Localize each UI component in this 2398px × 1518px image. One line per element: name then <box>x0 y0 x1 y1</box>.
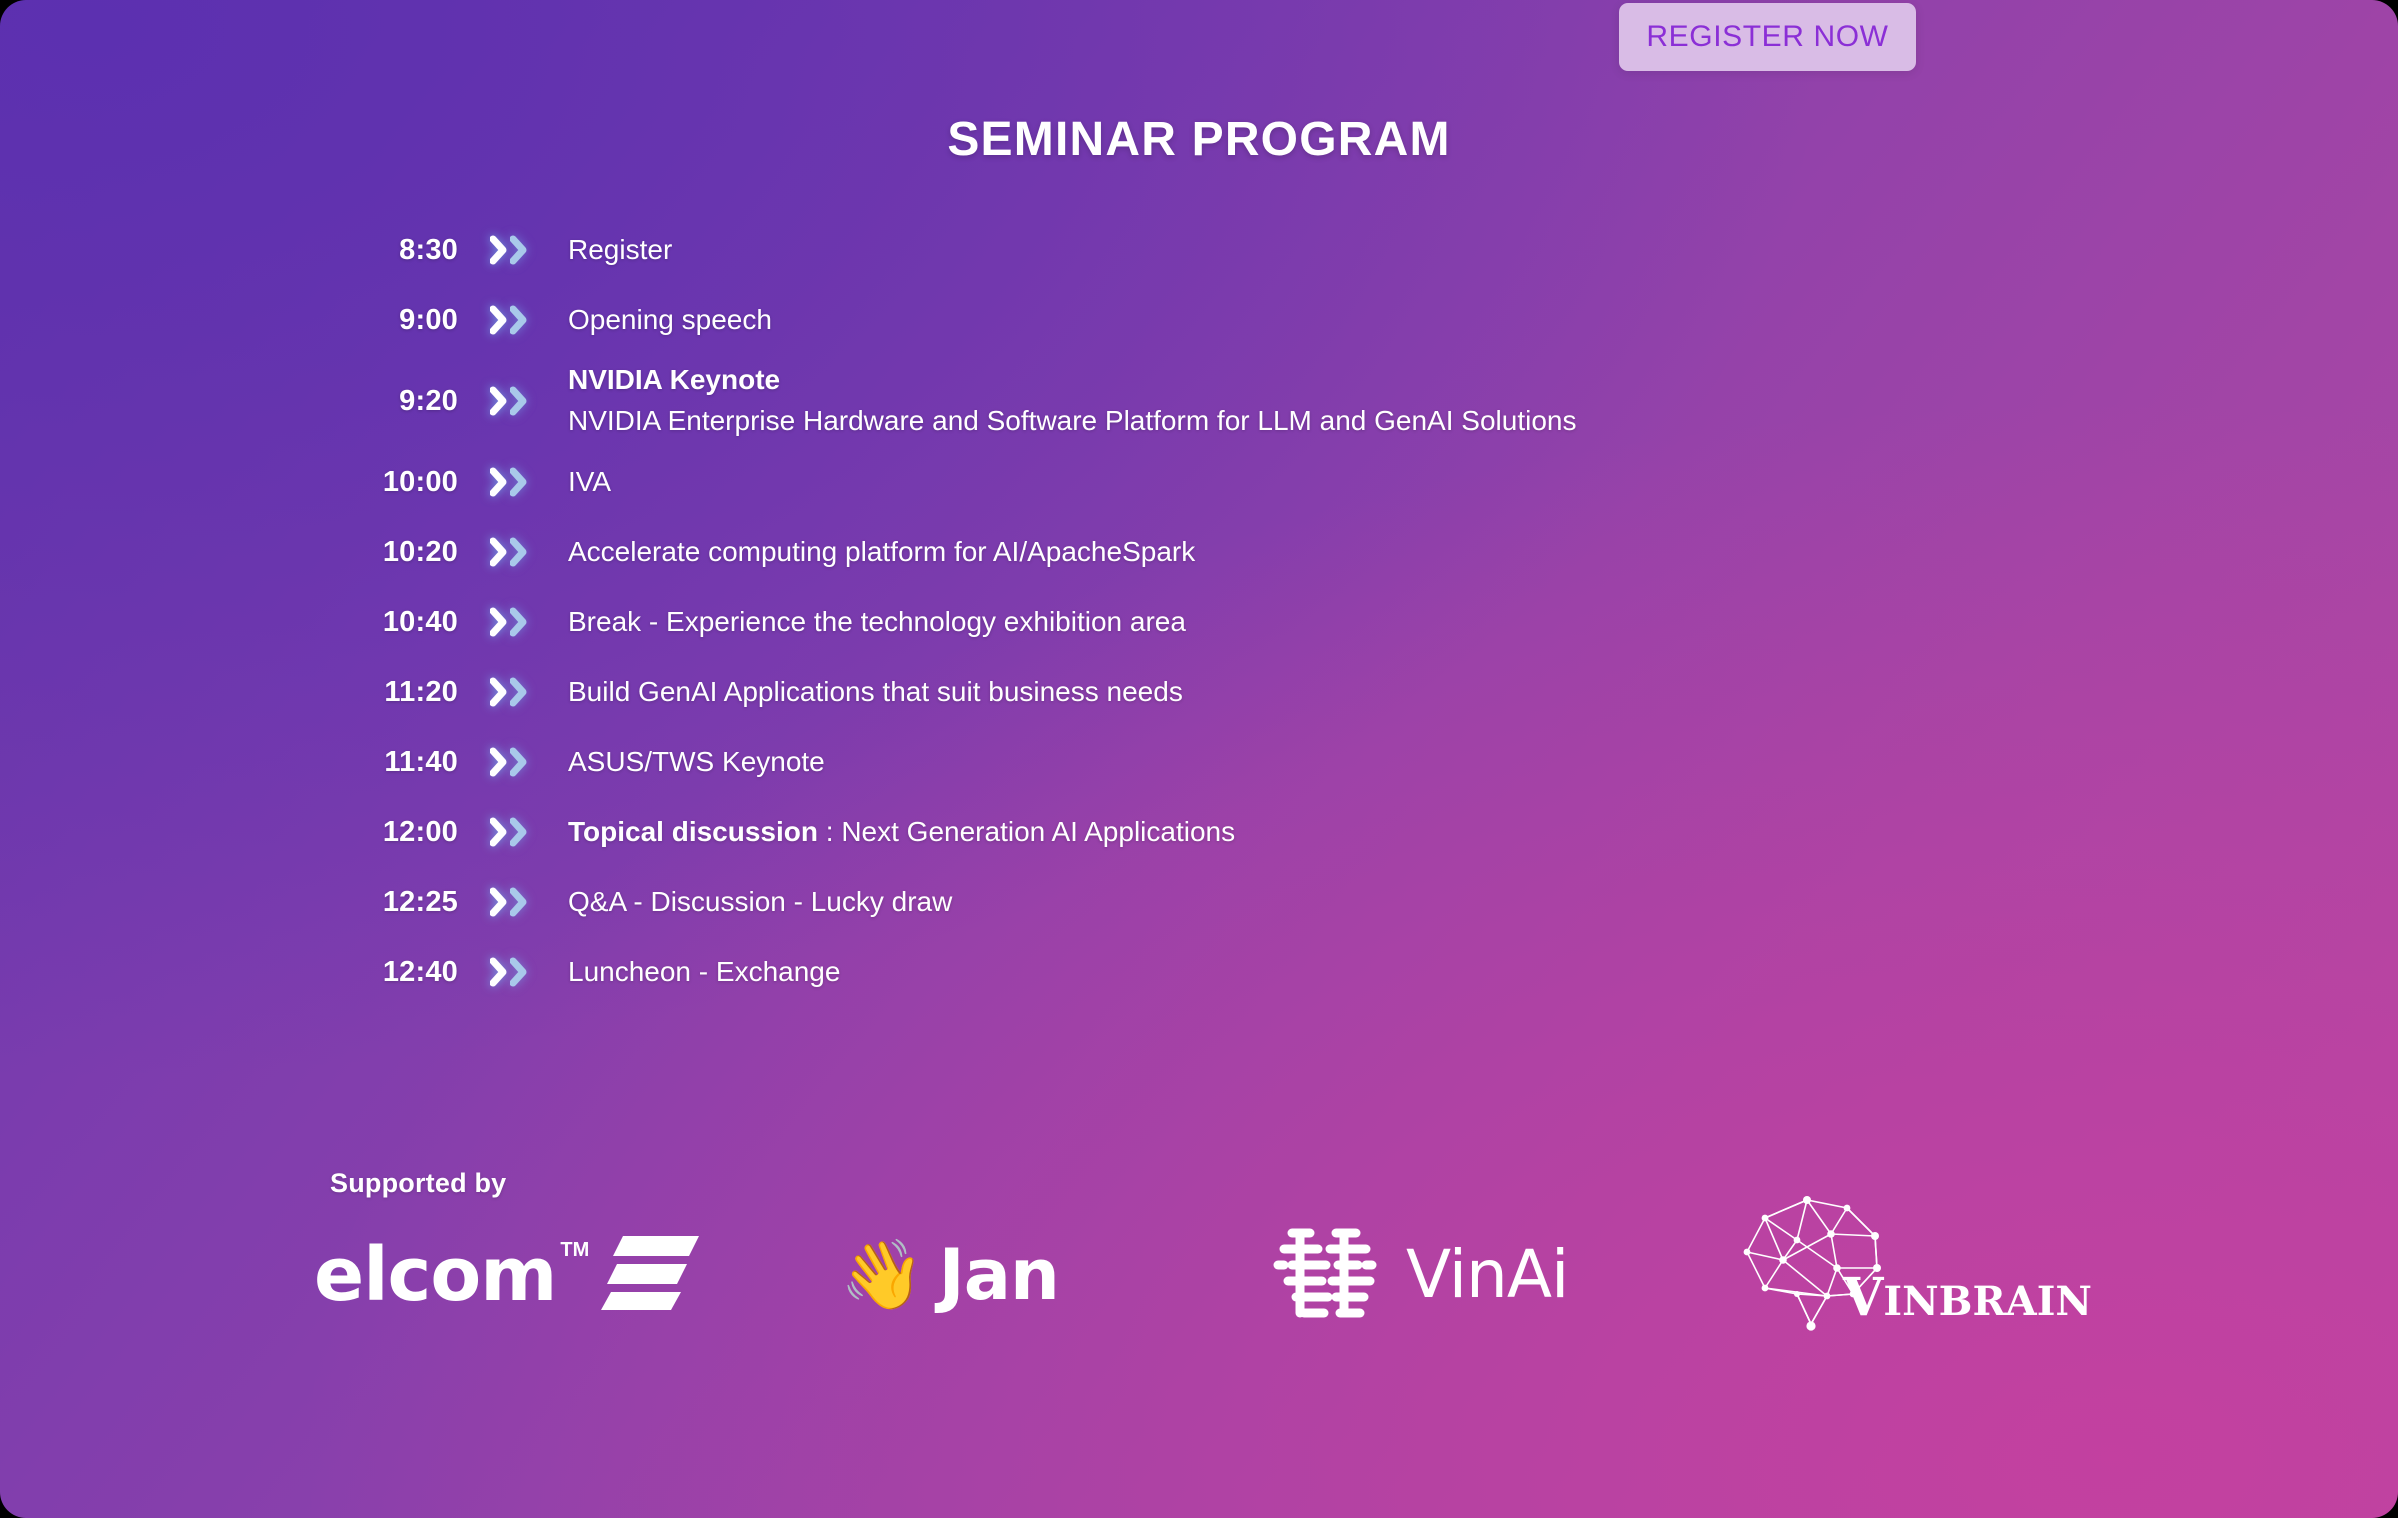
sponsor-logo-elcom: elcom TM <box>314 1215 701 1335</box>
agenda-row-time: 9:00 <box>330 304 458 337</box>
agenda-row: 12:00 Topical discussion : Next Generati… <box>330 797 2030 867</box>
chevron-right-icon <box>510 537 527 567</box>
double-chevron-right-icon <box>472 305 544 335</box>
double-chevron-right-icon <box>472 467 544 497</box>
agenda-row-text: Register <box>568 230 672 271</box>
agenda-row-title: ASUS/TWS Keynote <box>568 746 825 777</box>
chevron-right-icon <box>510 957 527 987</box>
agenda-row-subtitle: NVIDIA Enterprise Hardware and Software … <box>568 401 1576 442</box>
agenda-row-title: Topical discussion <box>568 816 818 847</box>
agenda-row-time: 10:40 <box>330 606 458 639</box>
agenda-row-time: 9:20 <box>330 385 458 418</box>
agenda-row-title: NVIDIA Keynote <box>568 360 1576 401</box>
chevron-right-icon <box>510 386 527 416</box>
agenda-row-title: IVA <box>568 466 611 497</box>
sponsor-logo-vinbrain: VINBRAIN <box>1735 1199 2075 1319</box>
trademark-symbol: TM <box>560 1239 589 1262</box>
double-chevron-right-icon <box>472 235 544 265</box>
chevron-right-icon <box>490 607 507 637</box>
agenda-row-title: Accelerate computing platform for AI/Apa… <box>568 536 1195 567</box>
chevron-right-icon <box>490 235 507 265</box>
chevron-right-icon <box>490 747 507 777</box>
agenda-row: 9:20 NVIDIA Keynote NVIDIA Enterprise Ha… <box>330 355 2030 447</box>
agenda-row-text: Build GenAI Applications that suit busin… <box>568 672 1183 713</box>
agenda-row-time: 12:25 <box>330 886 458 919</box>
agenda-row: 8:30 Register <box>330 215 2030 285</box>
double-chevron-right-icon <box>472 386 544 416</box>
chevron-right-icon <box>490 887 507 917</box>
waving-hand-icon: 👋 <box>840 1241 925 1309</box>
agenda-row-title: Luncheon - Exchange <box>568 956 840 987</box>
agenda-row-time: 11:40 <box>330 746 458 779</box>
page-title: SEMINAR PROGRAM <box>0 112 2398 167</box>
chevron-right-icon <box>510 467 527 497</box>
vinbrain-wordmark-rest: INBRAIN <box>1883 1278 2092 1325</box>
agenda-row-text: Opening speech <box>568 300 772 341</box>
agenda-row-time: 10:20 <box>330 536 458 569</box>
agenda-row-title-suffix: : Next Generation AI Applications <box>818 816 1235 847</box>
double-chevron-right-icon <box>472 537 544 567</box>
agenda-row: 10:20 Accelerate computing platform for … <box>330 517 2030 587</box>
agenda-row-title: Register <box>568 234 672 265</box>
vinai-circuit-icon <box>1270 1221 1390 1330</box>
seminar-program-page: REGISTER NOW SEMINAR PROGRAM 8:30 Regist… <box>0 0 2398 1518</box>
double-chevron-right-icon <box>472 887 544 917</box>
agenda-row-title: Break - Experience the technology exhibi… <box>568 606 1186 637</box>
agenda-row: 11:20 Build GenAI Applications that suit… <box>330 657 2030 727</box>
chevron-right-icon <box>510 747 527 777</box>
agenda-row: 12:40 Luncheon - Exchange <box>330 937 2030 1007</box>
agenda-row-text: Luncheon - Exchange <box>568 952 840 993</box>
agenda-row-text: Topical discussion : Next Generation AI … <box>568 812 1235 853</box>
double-chevron-right-icon <box>472 607 544 637</box>
agenda-row-text: Accelerate computing platform for AI/Apa… <box>568 532 1195 573</box>
chevron-right-icon <box>510 887 527 917</box>
double-chevron-right-icon <box>472 677 544 707</box>
chevron-right-icon <box>510 817 527 847</box>
agenda-row-text: Break - Experience the technology exhibi… <box>568 602 1186 643</box>
sponsor-logo-jan: 👋 Jan <box>840 1215 1059 1335</box>
agenda-row-text: Q&A - Discussion - Lucky draw <box>568 882 952 923</box>
elcom-wordmark: elcom <box>314 1238 556 1312</box>
chevron-right-icon <box>490 817 507 847</box>
jan-wordmark: Jan <box>939 1240 1059 1310</box>
agenda-row-title: Build GenAI Applications that suit busin… <box>568 676 1183 707</box>
agenda-row-time: 12:40 <box>330 956 458 989</box>
agenda-row: 9:00 Opening speech <box>330 285 2030 355</box>
chevron-right-icon <box>490 386 507 416</box>
chevron-right-icon <box>490 305 507 335</box>
agenda-row-time: 12:00 <box>330 816 458 849</box>
vinai-wordmark: VinAi <box>1406 1242 1568 1308</box>
vinbrain-wordmark: VINBRAIN <box>1843 1272 2092 1324</box>
agenda-row-time: 10:00 <box>330 466 458 499</box>
chevron-right-icon <box>510 607 527 637</box>
chevron-right-icon <box>490 467 507 497</box>
agenda-row: 12:25 Q&A - Discussion - Lucky draw <box>330 867 2030 937</box>
double-chevron-right-icon <box>472 817 544 847</box>
sponsor-logos: elcom TM 👋 Jan <box>310 1215 2110 1345</box>
sponsor-logo-vinai: VinAi <box>1270 1215 1568 1335</box>
double-chevron-right-icon <box>472 957 544 987</box>
elcom-e-bars-icon <box>601 1234 701 1317</box>
double-chevron-right-icon <box>472 747 544 777</box>
vinbrain-wordmark-cap: V <box>1843 1267 1883 1328</box>
agenda-row-text: NVIDIA Keynote NVIDIA Enterprise Hardwar… <box>568 360 1576 441</box>
supported-by-label: Supported by <box>330 1168 506 1199</box>
agenda-row-title: Q&A - Discussion - Lucky draw <box>568 886 952 917</box>
chevron-right-icon <box>510 677 527 707</box>
chevron-right-icon <box>490 677 507 707</box>
register-now-button[interactable]: REGISTER NOW <box>1619 3 1916 71</box>
agenda-list: 8:30 Register 9:00 Opening speech 9:20 <box>330 215 2030 1007</box>
agenda-row-time: 8:30 <box>330 234 458 267</box>
agenda-row-text: ASUS/TWS Keynote <box>568 742 825 783</box>
agenda-row: 11:40 ASUS/TWS Keynote <box>330 727 2030 797</box>
chevron-right-icon <box>510 235 527 265</box>
agenda-row: 10:00 IVA <box>330 447 2030 517</box>
chevron-right-icon <box>490 957 507 987</box>
agenda-row-text: IVA <box>568 462 611 503</box>
chevron-right-icon <box>510 305 527 335</box>
agenda-row-title: Opening speech <box>568 304 772 335</box>
chevron-right-icon <box>490 537 507 567</box>
agenda-row-time: 11:20 <box>330 676 458 709</box>
agenda-row: 10:40 Break - Experience the technology … <box>330 587 2030 657</box>
